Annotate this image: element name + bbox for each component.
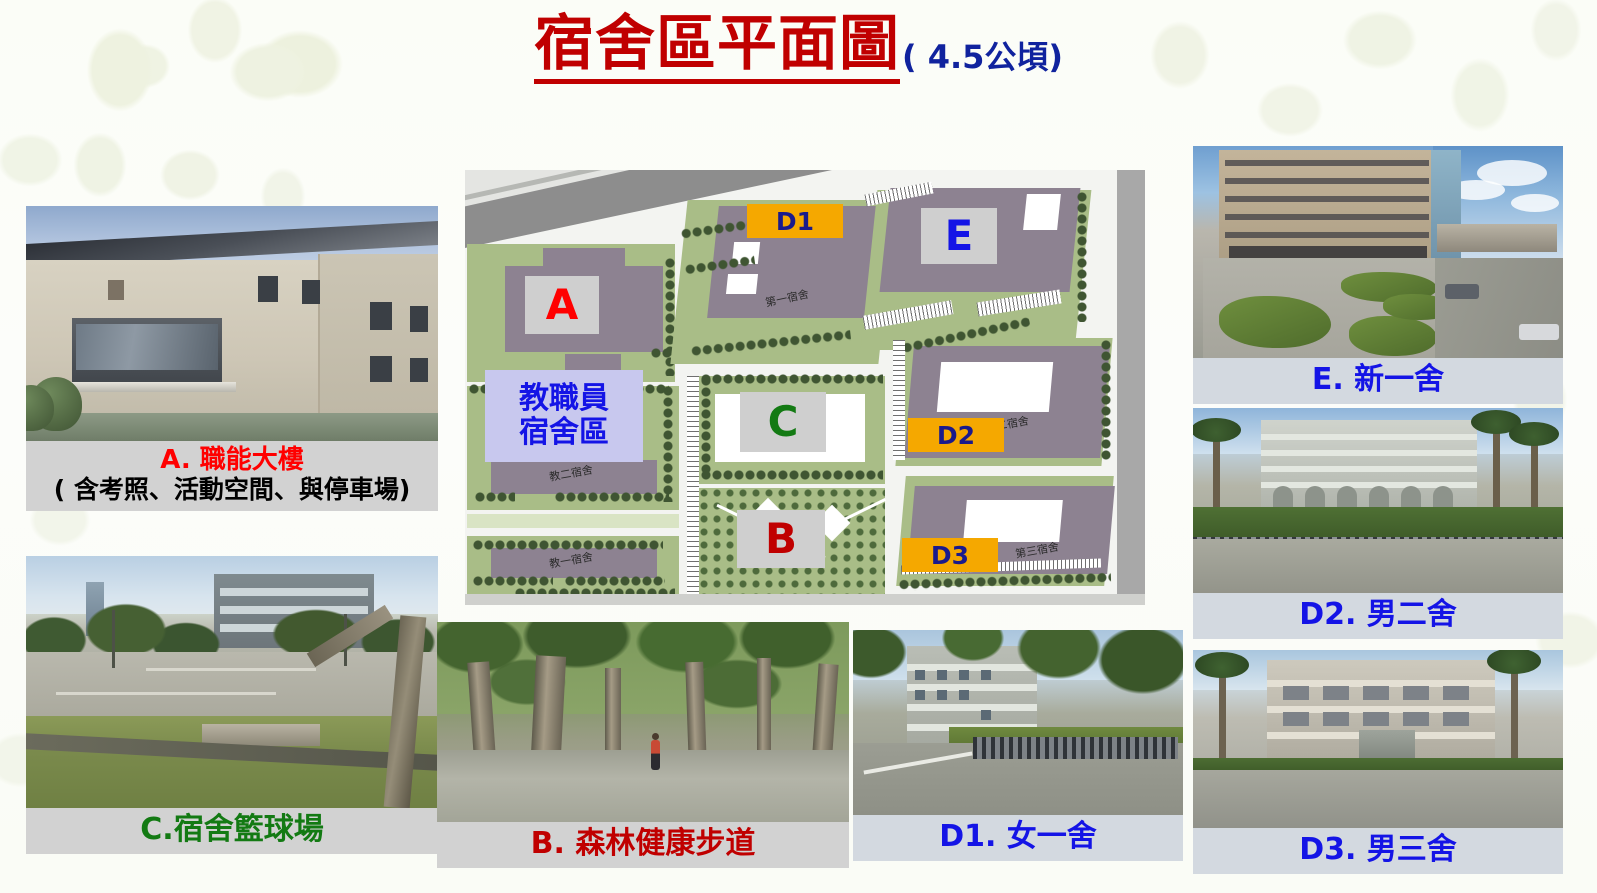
photo-card-e[interactable]: E. 新一舍 — [1193, 146, 1563, 404]
map-hedge — [663, 386, 674, 502]
glass-wall — [76, 324, 218, 370]
dormitory-building — [1219, 150, 1437, 266]
map-fence — [687, 376, 699, 600]
photo-new-dorm-1 — [1193, 146, 1563, 358]
map-tag-d3-label: D3 — [931, 543, 969, 568]
dormitory-building — [1267, 660, 1495, 764]
map-tag-b-label: B — [765, 518, 797, 560]
caption-d3: D3. 男三舍 — [1193, 828, 1563, 874]
palm-tree — [1219, 670, 1226, 762]
map-hedge — [475, 492, 515, 503]
photo-card-d2[interactable]: D2. 男二舍 — [1193, 408, 1563, 639]
map-tag-staff-zone[interactable]: 教職員 宿舍區 — [485, 370, 643, 462]
map-tag-a[interactable]: A — [525, 276, 599, 334]
map-tag-d2-label: D2 — [937, 423, 975, 448]
window — [370, 356, 392, 382]
caption-e: E. 新一舍 — [1193, 358, 1563, 404]
map-tag-d1-label: D1 — [776, 209, 814, 234]
map-path — [467, 514, 679, 528]
photo-card-b[interactable]: B. 森林健康步道 — [437, 622, 849, 868]
bicycle-parking — [973, 737, 1178, 759]
road-surface — [1193, 539, 1563, 593]
map-tag-b[interactable]: B — [737, 510, 825, 568]
window — [302, 280, 320, 304]
caption-a-line2: ( 含考照、活動空間、與停車場) — [26, 476, 438, 504]
map-hedge — [473, 540, 663, 551]
window — [370, 302, 392, 330]
map-hedge — [1101, 340, 1112, 460]
window — [108, 280, 124, 300]
page-title-area-note: ( 4.5公頃) — [902, 32, 1063, 78]
map-tag-c[interactable]: C — [740, 392, 826, 452]
car — [1519, 324, 1559, 340]
photo-card-d1[interactable]: D1. 女一舍 — [853, 630, 1183, 861]
map-tag-e[interactable]: E — [921, 208, 997, 264]
map-tag-d2[interactable]: D2 — [908, 418, 1004, 452]
caption-a-line1: A. 職能大樓 — [160, 445, 304, 475]
map-hedge — [701, 376, 712, 472]
photo-mens-dorm-2 — [1193, 408, 1563, 593]
site-plan-map[interactable]: 第一宿舍 教二宿舍 教一宿舍 — [465, 170, 1145, 605]
hedge-row — [1193, 507, 1563, 541]
map-tag-d3[interactable]: D3 — [902, 538, 998, 572]
car — [1445, 284, 1479, 299]
caption-e-line1: E. 新一舍 — [1312, 362, 1444, 397]
map-courtyard — [963, 500, 1063, 542]
map-hedge — [555, 492, 669, 503]
map-south-edge — [465, 594, 1145, 605]
map-courtyard — [726, 274, 758, 294]
map-courtyard — [937, 362, 1053, 412]
person-jogging — [651, 740, 660, 770]
caption-c: C.宿舍籃球場 — [26, 808, 438, 854]
photo-card-a[interactable]: A. 職能大樓 ( 含考照、活動空間、與停車場) — [26, 206, 438, 511]
caption-d3-line1: D3. 男三舍 — [1299, 832, 1457, 867]
cloud — [1511, 194, 1559, 212]
caption-b: B. 森林健康步道 — [437, 822, 849, 868]
tree-trunk — [757, 658, 771, 754]
trail-surface — [437, 750, 849, 822]
caption-d1-line1: D1. 女一舍 — [939, 819, 1097, 854]
map-east-edge — [1117, 170, 1145, 605]
caption-d2-line1: D2. 男二舍 — [1299, 597, 1457, 632]
page-title: 宿舍區平面圖( 4.5公頃) — [0, 12, 1597, 84]
road-surface — [1435, 258, 1563, 358]
hoop-pole — [112, 610, 115, 668]
lawn-bed — [1349, 316, 1437, 356]
window — [410, 306, 428, 332]
map-hedge — [1077, 192, 1088, 322]
map-hedge — [473, 576, 553, 587]
distant-buildings — [1437, 224, 1557, 252]
road-surface — [1193, 770, 1563, 828]
palm-tree — [1213, 434, 1220, 516]
caption-b-line1: B. 森林健康步道 — [531, 826, 756, 861]
photo-card-d3[interactable]: D3. 男三舍 — [1193, 650, 1563, 874]
dormitory-building — [1261, 420, 1477, 516]
map-fence — [893, 340, 905, 460]
slide-stage: 宿舍區平面圖( 4.5公頃) A. 職能大樓 ( 含考照、活動空間、與停車場) — [0, 0, 1597, 893]
map-hedge — [565, 576, 665, 587]
map-hedge — [701, 374, 883, 385]
map-tag-staff-line2: 宿舍區 — [519, 416, 609, 450]
map-tag-staff-line1: 教職員 — [519, 382, 609, 416]
forest-canopy — [437, 622, 849, 714]
map-building-a-wing — [543, 248, 625, 272]
map-tag-a-label: A — [546, 284, 579, 326]
map-courtyard — [1023, 194, 1061, 230]
basketball-court-surface — [26, 652, 438, 724]
caption-d2: D2. 男二舍 — [1193, 593, 1563, 639]
photo-mens-dorm-3 — [1193, 650, 1563, 828]
map-tag-d1[interactable]: D1 — [747, 204, 843, 238]
page-title-main: 宿舍區平面圖 — [534, 12, 900, 84]
photo-forest-trail — [437, 622, 849, 822]
caption-d1: D1. 女一舍 — [853, 815, 1183, 861]
window — [410, 358, 428, 382]
palm-tree — [1511, 666, 1518, 762]
photo-womens-dorm-1 — [853, 630, 1183, 815]
map-hedge — [701, 470, 883, 481]
caption-c-line1: C.宿舍籃球場 — [140, 812, 323, 847]
palm-tree — [1531, 438, 1538, 518]
map-tag-c-label: C — [768, 401, 799, 443]
ground-strip — [26, 413, 438, 441]
photo-vocational-building — [26, 206, 438, 441]
balcony-railing — [60, 382, 236, 392]
photo-basketball-court — [26, 556, 438, 808]
window — [258, 276, 278, 302]
map-tag-e-label: E — [945, 215, 974, 257]
photo-card-c[interactable]: C.宿舍籃球場 — [26, 556, 438, 854]
caption-a: A. 職能大樓 ( 含考照、活動空間、與停車場) — [26, 441, 438, 511]
palm-tree — [1493, 426, 1500, 518]
